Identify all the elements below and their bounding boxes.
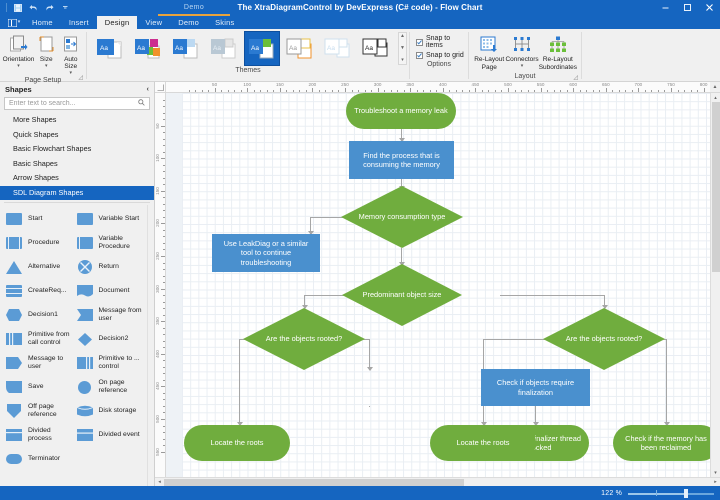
ruler-tick-minor <box>645 90 646 92</box>
ruler-tick-major <box>508 88 509 92</box>
application-menu-button[interactable]: ▾ <box>4 16 24 29</box>
node-find-process[interactable]: Find the process that is consuming the m… <box>349 141 454 179</box>
ruler-label: 600 <box>569 82 577 87</box>
ruler-tick-minor <box>332 90 333 92</box>
ruler-label: 150 <box>276 82 284 87</box>
scroll-down-icon[interactable]: ▾ <box>714 468 717 477</box>
ruler-label: 450 <box>155 383 160 391</box>
svg-text:Aa: Aa <box>251 45 259 52</box>
node-locate-roots-left[interactable]: Locate the roots <box>184 425 290 461</box>
ruler-tick-major <box>161 223 165 224</box>
ruler-tick-minor <box>619 90 620 92</box>
shape-item-message-from-user[interactable]: Message from user <box>75 303 146 327</box>
shape-item-divided-process[interactable]: Divided process <box>4 423 75 447</box>
search-input[interactable] <box>9 100 135 107</box>
node-check-memory-reclaimed[interactable]: Check if the memory has been reclaimed <box>613 425 710 461</box>
ruler-tick-minor <box>163 308 165 309</box>
ruler-tick-major <box>704 88 705 92</box>
ruler-label: 300 <box>374 82 382 87</box>
ruler-tick-minor <box>528 90 529 92</box>
node-text: Check if objects require finalization <box>486 378 585 397</box>
shape-item-variable-procedure[interactable]: Variable Procedure <box>75 231 146 255</box>
ruler-tick-major <box>638 88 639 92</box>
ruler-label: 250 <box>341 82 349 87</box>
ruler-label: 150 <box>155 187 160 195</box>
ruler-tick-minor <box>208 90 209 92</box>
title-bar: Demo The XtraDiagramControl by DevExpres… <box>0 0 720 15</box>
theme-blackwhite[interactable]: Aa <box>358 32 393 65</box>
ruler-tick-major <box>312 88 313 92</box>
canvas-scroll-up-button[interactable]: ▲ <box>710 82 720 93</box>
shape-search-box[interactable] <box>4 97 150 110</box>
shape-label: Document <box>99 287 130 295</box>
ruler-tick-minor <box>319 90 320 92</box>
connector-n5-n7-h <box>500 295 604 296</box>
ruler-tick-major <box>475 88 476 92</box>
node-check-objects-finalization[interactable]: Check if objects require finalization <box>481 369 590 406</box>
ruler-tick-major <box>161 256 165 257</box>
ruler-tick-major <box>161 321 165 322</box>
arrow-head <box>367 367 373 371</box>
scroll-more-icon[interactable]: ▾ <box>401 58 404 63</box>
create-request-shape-icon <box>4 283 24 299</box>
divided-event-shape-icon <box>75 427 95 443</box>
themes-gallery-scroll[interactable]: ▲ ▼ ▾ <box>398 32 407 65</box>
shape-item-primitive-to-control[interactable]: Primitive to ... control <box>75 351 146 375</box>
connectors-button[interactable]: Connectors ▾ <box>505 32 538 68</box>
main-area: Shapes ‹ More Shapes › Quick Shapes Basi… <box>0 82 720 486</box>
ruler-tick-minor <box>163 432 165 433</box>
shape-category-quick-shapes[interactable]: Quick Shapes <box>0 128 154 143</box>
ruler-tick-minor <box>163 132 165 133</box>
horizontal-ruler[interactable]: 5010015020025030035040045050055060065070… <box>166 82 710 93</box>
shape-label: Terminator <box>28 455 60 463</box>
ruler-tick-minor <box>325 90 326 92</box>
panel-divider <box>4 202 150 203</box>
node-are-objects-rooted-right[interactable]: Are the objects rooted? <box>543 308 665 370</box>
scroll-down-icon[interactable]: ▼ <box>400 46 405 51</box>
ruler-tick-major <box>161 386 165 387</box>
ruler-label: 100 <box>155 154 160 162</box>
shape-item-start[interactable]: Start <box>4 207 75 231</box>
ruler-tick-minor <box>371 90 372 92</box>
relayout-page-label: Re-Layout <box>474 56 504 63</box>
ruler-tick-minor <box>501 90 502 92</box>
shape-item-return[interactable]: Return <box>75 255 146 279</box>
canvas-horizontal-scrollbar[interactable]: ◂ ▸ <box>155 477 720 486</box>
ruler-tick-major <box>161 452 165 453</box>
shape-item-variable-start[interactable]: Variable Start <box>75 207 146 231</box>
scroll-left-icon[interactable]: ◂ <box>155 478 164 486</box>
snap-to-grid-checkbox[interactable]: Snap to grid <box>416 52 464 59</box>
ribbon-group-options: Snap to items Snap to grid Options <box>410 29 468 82</box>
ruler-label: 750 <box>667 82 675 87</box>
ruler-tick-major <box>606 88 607 92</box>
triangle-shape-icon <box>4 259 24 275</box>
tab-design[interactable]: Design <box>97 16 138 29</box>
ruler-tick-major <box>443 88 444 92</box>
ruler-tick-major <box>345 88 346 92</box>
ruler-tick-minor <box>338 90 339 92</box>
chevron-down-icon: ▾ <box>18 20 21 25</box>
ribbon: Orientation ▾ Size ▾ <box>0 29 720 82</box>
ruler-tick-major <box>161 158 165 159</box>
shape-label: CreateReq... <box>28 287 67 295</box>
ruler-label: 50 <box>155 123 160 128</box>
ruler-tick-minor <box>534 90 535 92</box>
shape-item-off-page-reference[interactable]: Off page reference <box>4 399 75 423</box>
decision1-shape-icon <box>4 307 24 323</box>
collapse-panel-icon[interactable]: ‹ <box>147 86 149 93</box>
ruler-tick-minor <box>163 302 165 303</box>
connector-n6-n8-v <box>369 339 370 370</box>
ruler-tick-major <box>541 88 542 92</box>
hscroll-track[interactable] <box>164 478 711 486</box>
layout-group-label: Layout <box>469 71 581 82</box>
shape-label: Variable Procedure <box>99 235 146 250</box>
chevron-right-icon: › <box>49 113 51 128</box>
ruler-tick-minor <box>560 90 561 92</box>
ruler-tick-major <box>161 289 165 290</box>
diagram-page[interactable]: Troubleshoot a memory leak Find the proc… <box>182 93 710 477</box>
contextual-tab-underline <box>158 14 230 16</box>
node-memory-consumption-type[interactable]: Memory consumption type <box>341 186 463 248</box>
ruler-tick-minor <box>273 90 274 92</box>
ruler-tick-minor <box>417 90 418 92</box>
ruler-tick-minor <box>352 90 353 92</box>
ruler-tick-minor <box>163 249 165 250</box>
shape-item-decision1[interactable]: Decision1 <box>4 303 75 327</box>
primitive-to-control-shape-icon <box>75 355 95 371</box>
ruler-tick-minor <box>567 90 568 92</box>
ruler-tick-minor <box>254 90 255 92</box>
ruler-tick-minor <box>163 328 165 329</box>
ruler-tick-minor <box>163 100 165 101</box>
chevron-down-icon: ▾ <box>521 64 524 68</box>
ruler-tick-minor <box>221 90 222 92</box>
ruler-tick-minor <box>163 119 165 120</box>
node-text: Find the process that is consuming the m… <box>354 151 449 170</box>
theme-grayscale[interactable]: Aa <box>207 32 242 65</box>
canvas-area: 5010015020025030035040045050055060065070… <box>155 82 720 486</box>
ruler-tick-minor <box>202 90 203 92</box>
theme-orange-line[interactable]: Aa <box>282 32 317 65</box>
maximize-icon[interactable] <box>676 0 698 15</box>
shape-grid: Start Variable Start Procedure Variable … <box>0 205 147 486</box>
tab-demo[interactable]: Demo <box>170 16 207 29</box>
relayout-subordinates-button[interactable]: Re-Layout Subordinates <box>539 32 577 71</box>
tab-home[interactable]: Home <box>24 16 61 29</box>
relayout-subordinates-icon <box>548 34 568 55</box>
ruler-row: 5010015020025030035040045050055060065070… <box>155 82 720 93</box>
shape-item-save[interactable]: Save <box>4 375 75 399</box>
shape-item-document[interactable]: Document <box>75 279 146 303</box>
node-troubleshoot-memory-leak[interactable]: Troubleshoot a memory leak <box>346 93 456 129</box>
shape-item-on-page-reference[interactable]: On page reference <box>75 375 146 399</box>
node-text: Use LeakDiag or a similar tool to contin… <box>217 239 315 268</box>
themes-gallery: Aa Aa <box>87 29 409 65</box>
ruler-tick-minor <box>293 90 294 92</box>
ruler-tick-minor <box>430 90 431 92</box>
rect-shape-icon <box>75 211 95 227</box>
ruler-tick-minor <box>163 230 165 231</box>
ruler-tick-minor <box>163 406 165 407</box>
shape-label: Save <box>28 383 44 391</box>
vscroll-thumb[interactable] <box>712 102 720 272</box>
vertical-ruler[interactable]: 50100150200250300350400450500550 <box>155 93 166 477</box>
snap-to-grid-label: Snap to grid <box>426 52 464 59</box>
theme-office[interactable]: Aa <box>93 32 128 65</box>
ruler-tick-minor <box>469 90 470 92</box>
ribbon-filler <box>582 29 720 81</box>
hscroll-thumb[interactable] <box>164 479 464 486</box>
ruler-tick-minor <box>163 217 165 218</box>
shape-category-arrow-shapes[interactable]: Arrow Shapes <box>0 171 154 186</box>
page-size-button[interactable]: Size ▾ <box>35 32 58 68</box>
zoom-slider[interactable] <box>628 488 714 498</box>
ruler-label: 650 <box>602 82 610 87</box>
ruler-tick-minor <box>684 90 685 92</box>
ruler-tick-minor <box>163 334 165 335</box>
scroll-right-icon[interactable]: ▸ <box>711 478 720 486</box>
ruler-tick-minor <box>163 263 165 264</box>
tab-view[interactable]: View <box>137 16 170 29</box>
themes-group-label: Themes <box>87 65 409 76</box>
layout-items: Re-Layout Page <box>469 29 581 71</box>
shape-item-message-to-user[interactable]: Message to user <box>4 351 75 375</box>
page-setup-group-label: Page Setup <box>0 75 86 86</box>
scroll-up-icon[interactable]: ▴ <box>714 93 717 102</box>
ruler-tick-minor <box>163 243 165 244</box>
ruler-tick-minor <box>384 90 385 92</box>
ruler-label: 100 <box>243 82 251 87</box>
ruler-label: 550 <box>537 82 545 87</box>
options-checkbox-list: Snap to items Snap to grid <box>410 29 468 59</box>
ruler-tick-minor <box>163 347 165 348</box>
shapes-scrollbar[interactable] <box>147 205 154 486</box>
relayout-page-button[interactable]: Re-Layout Page <box>473 32 505 71</box>
shape-item-disk-storage[interactable]: Disk storage <box>75 399 146 423</box>
shape-category-basic-flowchart-shapes[interactable]: Basic Flowchart Shapes <box>0 142 154 157</box>
connector-n8-stub <box>369 406 370 407</box>
shape-item-divided-event[interactable]: Divided event <box>75 423 146 447</box>
ruler-tick-minor <box>547 90 548 92</box>
ruler-tick-minor <box>580 90 581 92</box>
ribbon-group-layout: Re-Layout Page <box>469 29 581 82</box>
scroll-up-icon[interactable]: ▲ <box>400 34 405 39</box>
ribbon-group-themes: Aa Aa <box>87 29 409 82</box>
ruler-tick-minor <box>586 90 587 92</box>
ribbon-tab-strip: ▾ Home Insert Design View Demo Skins <box>0 15 720 29</box>
ruler-tick-minor <box>163 178 165 179</box>
shape-label: On page reference <box>99 379 146 394</box>
canvas-row: 50100150200250300350400450500550 <box>155 93 720 477</box>
theme-blue[interactable]: Aa <box>169 32 204 65</box>
ruler-tick-minor <box>495 90 496 92</box>
ruler-tick-minor <box>163 315 165 316</box>
ruler-tick-minor <box>593 90 594 92</box>
rect-shape-icon <box>4 211 24 227</box>
auto-size-icon <box>61 34 80 55</box>
page-size-label: Size <box>40 56 53 63</box>
ruler-tick-minor <box>163 197 165 198</box>
ruler-tick-minor <box>163 426 165 427</box>
tab-insert[interactable]: Insert <box>61 16 97 29</box>
shape-label: Variable Start <box>99 215 140 223</box>
diamond-shape-icon <box>75 331 95 347</box>
ruler-tick-minor <box>195 90 196 92</box>
ruler-tick-minor <box>678 90 679 92</box>
message-from-user-shape-icon <box>75 307 95 323</box>
node-use-leakdiag[interactable]: Use LeakDiag or a similar tool to contin… <box>212 234 320 272</box>
ruler-tick-minor <box>163 367 165 368</box>
node-text: Memory consumption type <box>359 212 446 222</box>
zoom-slider-handle[interactable] <box>684 489 688 498</box>
svg-text:Aa: Aa <box>365 45 373 52</box>
node-text: Locate the roots <box>456 438 509 448</box>
ruler-tick-minor <box>163 236 165 237</box>
ruler-tick-minor <box>691 90 692 92</box>
ruler-corner[interactable] <box>155 82 166 93</box>
ruler-tick-minor <box>228 90 229 92</box>
auto-size-button[interactable]: Auto Size ▾ <box>60 32 83 75</box>
shape-item-alternative[interactable]: Alternative <box>4 255 75 279</box>
vscroll-track[interactable] <box>712 102 720 468</box>
svg-text:Aa: Aa <box>327 45 335 52</box>
search-icon[interactable] <box>138 99 145 108</box>
layout-dialog-launcher[interactable]: ◿ <box>573 74 578 81</box>
ruler-tick-minor <box>189 90 190 92</box>
shape-label: Message from user <box>99 307 146 322</box>
ruler-tick-minor <box>163 295 165 296</box>
minimize-icon[interactable] <box>654 0 676 15</box>
shape-category-sdl-diagram-shapes[interactable]: SDL Diagram Shapes <box>0 186 154 201</box>
node-are-objects-rooted-left[interactable]: Are the objects rooted? <box>243 308 365 370</box>
ruler-tick-minor <box>599 90 600 92</box>
ruler-tick-minor <box>163 282 165 283</box>
ruler-tick-minor <box>697 90 698 92</box>
ruler-tick-minor <box>163 204 165 205</box>
ruler-tick-minor <box>163 373 165 374</box>
primitive-from-call-control-shape-icon <box>4 331 24 347</box>
app-menu-icon <box>8 19 17 27</box>
canvas-vertical-scrollbar[interactable]: ▴ ▾ <box>710 93 720 477</box>
svg-text:Aa: Aa <box>137 45 145 52</box>
page-setup-dialog-launcher[interactable]: ◿ <box>78 74 83 81</box>
circle-shape-icon <box>75 379 95 395</box>
snap-to-items-label: Snap to items <box>426 35 464 49</box>
ruler-tick-minor <box>651 90 652 92</box>
ruler-tick-minor <box>612 90 613 92</box>
ruler-tick-minor <box>163 445 165 446</box>
orientation-button[interactable]: Orientation ▾ <box>4 32 33 68</box>
ruler-tick-minor <box>163 439 165 440</box>
ruler-tick-minor <box>163 399 165 400</box>
theme-light[interactable]: Aa <box>320 32 355 65</box>
connectors-label: Connectors <box>505 56 538 63</box>
svg-text:Aa: Aa <box>289 45 297 52</box>
shape-item-terminator[interactable]: Terminator <box>4 447 75 471</box>
shape-item-primitive-from-call-control[interactable]: Primitive from call control <box>4 327 75 351</box>
snap-to-items-checkbox[interactable]: Snap to items <box>416 35 464 49</box>
ruler-tick-minor <box>488 90 489 92</box>
page-size-icon <box>37 34 56 55</box>
ruler-tick-minor <box>163 412 165 413</box>
status-bar: 122 % <box>0 486 720 500</box>
chevron-down-icon: ▾ <box>17 64 20 68</box>
shape-label: Disk storage <box>99 407 137 415</box>
relayout-page-label2: Page <box>482 64 497 71</box>
ruler-tick-minor <box>163 145 165 146</box>
tab-skins[interactable]: Skins <box>207 16 242 29</box>
svg-text:Aa: Aa <box>175 45 183 52</box>
theme-green[interactable]: Aa <box>245 32 280 65</box>
shape-label: Decision2 <box>99 335 129 343</box>
orientation-label: Orientation <box>3 56 35 63</box>
ruler-tick-minor <box>286 90 287 92</box>
zoom-level-label: 122 % <box>601 490 622 497</box>
shape-item-decision2[interactable]: Decision2 <box>75 327 146 351</box>
diagram-canvas[interactable]: Troubleshoot a memory leak Find the proc… <box>166 93 710 477</box>
page-setup-items: Orientation ▾ Size ▾ <box>0 29 86 75</box>
shapes-panel: Shapes ‹ More Shapes › Quick Shapes Basi… <box>0 82 155 486</box>
relayout-subordinates-label2: Subordinates <box>539 64 577 71</box>
options-group-label: Options <box>410 59 468 70</box>
ruler-tick-minor <box>163 113 165 114</box>
chevron-down-icon: ▾ <box>45 64 48 68</box>
shape-item-createreq[interactable]: CreateReq... <box>4 279 75 303</box>
theme-colorful[interactable]: Aa <box>131 32 166 65</box>
shape-label: Divided event <box>99 431 140 439</box>
ruler-tick-minor <box>423 90 424 92</box>
close-icon[interactable] <box>698 0 720 15</box>
ruler-label: 550 <box>155 448 160 456</box>
ruler-tick-minor <box>241 90 242 92</box>
off-page-reference-shape-icon <box>4 403 24 419</box>
ruler-label: 400 <box>439 82 447 87</box>
shape-label: Start <box>28 215 42 223</box>
ruler-label: 500 <box>155 415 160 423</box>
shape-grid-wrap: Start Variable Start Procedure Variable … <box>0 205 154 486</box>
ruler-tick-minor <box>163 276 165 277</box>
ruler-tick-minor <box>358 90 359 92</box>
ruler-tick-minor <box>554 90 555 92</box>
circle-cross-shape-icon <box>75 259 95 275</box>
ruler-tick-minor <box>664 90 665 92</box>
shape-category-basic-shapes[interactable]: Basic Shapes <box>0 157 154 172</box>
node-locate-roots-right[interactable]: Locate the roots <box>430 425 536 461</box>
ruler-label: 250 <box>155 252 160 260</box>
shape-category-more-shapes[interactable]: More Shapes › <box>0 113 154 128</box>
shape-label: Alternative <box>28 263 60 271</box>
shape-item-procedure[interactable]: Procedure <box>4 231 75 255</box>
ruler-label: 400 <box>155 350 160 358</box>
ruler-label: 200 <box>309 82 317 87</box>
zoom-slider-midpoint <box>656 490 657 496</box>
ruler-tick-minor <box>391 90 392 92</box>
ruler-label: 200 <box>155 220 160 228</box>
shape-label: Return <box>99 263 119 271</box>
ruler-tick-minor <box>163 341 165 342</box>
shape-label: Message to user <box>28 355 75 370</box>
ruler-tick-minor <box>163 171 165 172</box>
ruler-label: 800 <box>700 82 708 87</box>
ruler-tick-major <box>280 88 281 92</box>
checkbox-checked-icon <box>416 39 423 46</box>
window-title: The XtraDiagramControl by DevExpress (C#… <box>0 0 720 15</box>
disk-storage-shape-icon <box>75 403 95 419</box>
shape-label: Primitive from call control <box>28 331 75 346</box>
